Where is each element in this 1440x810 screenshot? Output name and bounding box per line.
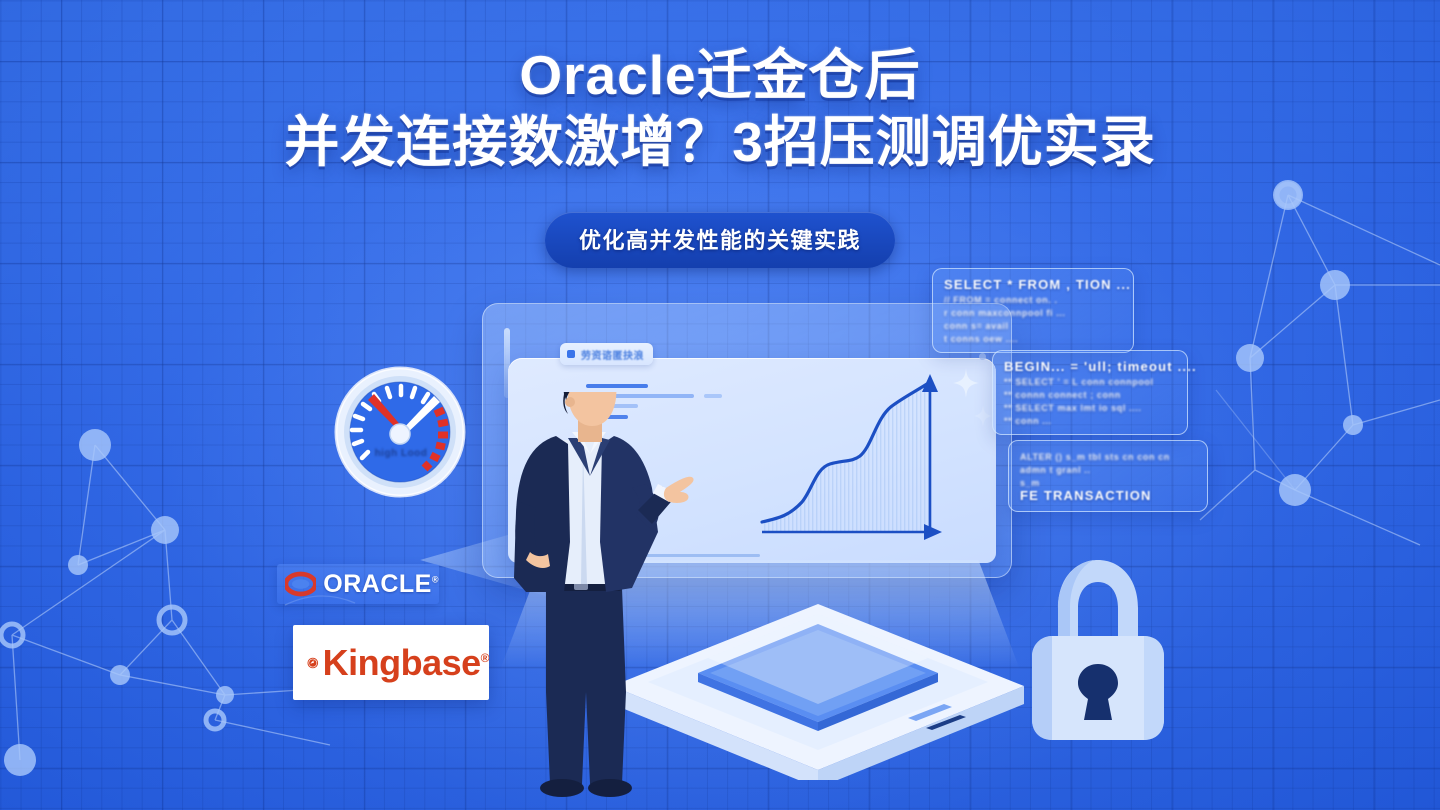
kingbase-logo-card: Kingbase® xyxy=(293,625,489,700)
code-line: ** SELECT max lmt io sql .... xyxy=(1004,403,1176,413)
code-line: BEGIN... = 'ull; timeout .... xyxy=(1004,359,1176,374)
headline-line-1: Oracle迁金仓后 xyxy=(0,44,1440,106)
code-line: FE TRANSACTION xyxy=(1020,488,1196,503)
code-line: // FROM = connect on. . xyxy=(944,295,1122,305)
sparkle-icon xyxy=(953,368,979,398)
sparkle-icon xyxy=(974,405,992,427)
placeholder-line xyxy=(704,394,722,398)
small-dot-decoration xyxy=(979,353,986,360)
code-line: SELECT * FROM , TION ... xyxy=(944,277,1122,292)
gauge-label: high Lood xyxy=(360,448,442,459)
square-dot-icon xyxy=(567,350,575,358)
code-line: admn t granl .. xyxy=(1020,465,1196,475)
code-line: ** SELECT ' = L conn connpool xyxy=(1004,377,1176,387)
code-line: s_m xyxy=(1020,478,1196,488)
subtitle-text: 优化高并发性能的关键实践 xyxy=(579,228,861,253)
chart-tag-label: 劳资谘匿抉浪 xyxy=(581,347,644,362)
code-line: r conn maxconnpool fi ... xyxy=(944,308,1122,318)
placeholder-line xyxy=(586,384,648,388)
businessman-presenter xyxy=(486,392,696,810)
padlock-icon xyxy=(1010,552,1185,752)
code-line: conn s= avail xyxy=(944,321,1122,331)
oracle-logo: ORACLE® xyxy=(277,564,439,604)
transaction-end-block: ALTER () s_m tbl sts cn con cn admn t gr… xyxy=(1008,440,1208,512)
banner-canvas: Oracle迁金仓后 并发连接数激增？3招压测调优实录 优化高并发性能的关键实践 xyxy=(0,0,1440,810)
bar-chart xyxy=(1104,766,1260,810)
kingbase-wordmark: Kingbase® xyxy=(323,642,489,684)
oracle-mark-icon xyxy=(285,571,316,597)
area-line-chart xyxy=(752,372,952,552)
chart-status-tag: 劳资谘匿抉浪 xyxy=(560,343,653,365)
headline-group: Oracle迁金仓后 并发连接数激增？3招压测调优实录 xyxy=(0,44,1440,174)
begin-transaction-block: BEGIN... = 'ull; timeout .... ** SELECT … xyxy=(992,350,1188,435)
code-line: ALTER () s_m tbl sts cn con cn xyxy=(1020,452,1196,462)
oracle-wordmark: ORACLE® xyxy=(323,570,439,599)
speedometer-gauge xyxy=(334,366,466,498)
code-line: ** connn connect ; conn xyxy=(1004,390,1176,400)
code-line: t conns oew .... xyxy=(944,334,1122,344)
code-line: ** conn ... xyxy=(1004,416,1176,426)
select-query-block: SELECT * FROM , TION ... // FROM = conne… xyxy=(932,268,1134,353)
subtitle-pill: 优化高并发性能的关键实践 xyxy=(545,212,895,268)
kingbase-mark-icon xyxy=(307,640,319,686)
headline-line-2: 并发连接数激增？3招压测调优实录 xyxy=(0,110,1440,174)
